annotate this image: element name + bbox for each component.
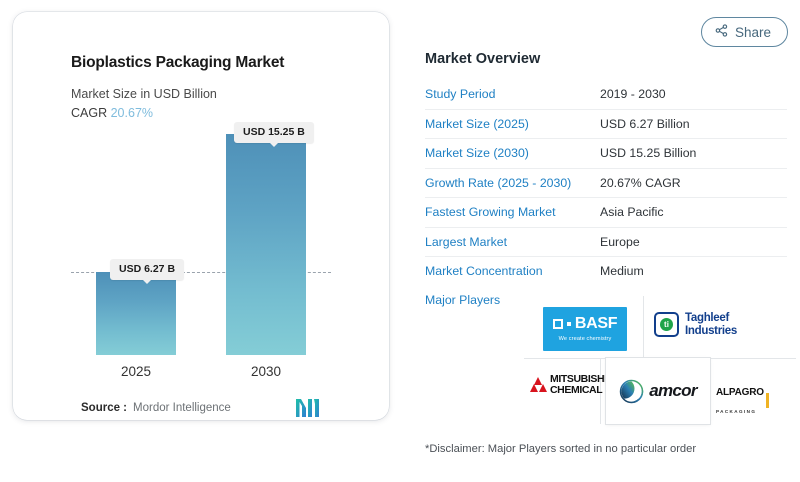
taghleef-wordmark: Taghleef Industries bbox=[685, 312, 737, 336]
major-players-logos: BASF We create chemistry ti Taghleef Ind… bbox=[524, 296, 796, 424]
logo-basf[interactable]: BASF We create chemistry bbox=[543, 307, 627, 351]
taghleef-line2: Industries bbox=[685, 325, 737, 337]
table-row: Fastest Growing Market Asia Pacific bbox=[425, 198, 787, 228]
row-value: 20.67% CAGR bbox=[600, 176, 681, 190]
taghleef-mark-icon: ti bbox=[654, 312, 679, 337]
basf-square-icon bbox=[553, 319, 563, 329]
share-label: Share bbox=[735, 25, 771, 40]
row-value: USD 15.25 Billion bbox=[600, 146, 696, 160]
source-value: Mordor Intelligence bbox=[133, 402, 231, 414]
source-row: Source : Mordor Intelligence bbox=[81, 402, 331, 414]
mitsubishi-diamond-icon bbox=[530, 377, 547, 392]
major-players-label: Major Players bbox=[425, 293, 500, 307]
row-label: Market Size (2025) bbox=[425, 117, 600, 131]
table-row: Market Size (2030) USD 15.25 Billion bbox=[425, 139, 787, 169]
row-value: Europe bbox=[600, 235, 640, 249]
alpagro-accent-bar bbox=[766, 393, 769, 408]
row-value: 2019 - 2030 bbox=[600, 87, 666, 101]
share-button[interactable]: Share bbox=[701, 17, 788, 47]
logo-mitsubishi-chemical[interactable]: MITSUBISHI CHEMICAL bbox=[530, 374, 607, 396]
bar-label-2030: USD 15.25 B bbox=[234, 122, 314, 143]
row-value: Asia Pacific bbox=[600, 205, 664, 219]
overview-table: Study Period 2019 - 2030 Market Size (20… bbox=[425, 80, 787, 286]
taghleef-inner-icon: ti bbox=[660, 318, 673, 331]
logo-alpagro-packaging[interactable]: ALPAGRO PACKAGING bbox=[716, 382, 769, 418]
source-label: Source : bbox=[81, 402, 127, 414]
grid-divider bbox=[710, 358, 711, 424]
market-snapshot-page: Bioplastics Packaging Market Market Size… bbox=[0, 0, 800, 482]
table-row: Growth Rate (2025 - 2030) 20.67% CAGR bbox=[425, 169, 787, 199]
market-overview-panel: Share Market Overview Study Period 2019 … bbox=[412, 0, 800, 482]
alpagro-wordmark: ALPAGRO PACKAGING bbox=[716, 382, 764, 418]
basf-dot-icon bbox=[567, 322, 571, 326]
logo-taghleef-industries[interactable]: ti Taghleef Industries bbox=[654, 312, 737, 337]
mitsubishi-wordmark: MITSUBISHI CHEMICAL bbox=[550, 374, 607, 396]
overview-title: Market Overview bbox=[425, 51, 540, 67]
logo-amcor[interactable]: amcor bbox=[606, 358, 710, 424]
taghleef-line1: Taghleef bbox=[685, 312, 729, 324]
row-label: Market Concentration bbox=[425, 264, 600, 278]
table-row: Study Period 2019 - 2030 bbox=[425, 80, 787, 110]
amcor-swirl-icon bbox=[619, 379, 644, 404]
row-label: Largest Market bbox=[425, 235, 600, 249]
x-axis-tick-2025: 2025 bbox=[96, 364, 176, 379]
bar-label-2025: USD 6.27 B bbox=[110, 259, 184, 280]
x-axis-tick-2030: 2030 bbox=[226, 364, 306, 379]
bar-chart-plot: USD 6.27 B USD 15.25 B 2025 2030 bbox=[13, 12, 389, 420]
row-label: Market Size (2030) bbox=[425, 146, 600, 160]
bar-2030[interactable] bbox=[226, 134, 306, 355]
grid-divider bbox=[643, 296, 644, 358]
disclaimer-text: *Disclaimer: Major Players sorted in no … bbox=[425, 443, 696, 455]
basf-mark: BASF bbox=[553, 316, 617, 332]
chart-card: Bioplastics Packaging Market Market Size… bbox=[13, 12, 389, 420]
basf-tagline: We create chemistry bbox=[559, 336, 612, 342]
basf-wordmark: BASF bbox=[575, 316, 617, 332]
bar-2025[interactable] bbox=[96, 272, 176, 355]
amcor-wordmark: amcor bbox=[649, 381, 697, 401]
mitsubishi-line2: CHEMICAL bbox=[550, 384, 602, 396]
row-label: Study Period bbox=[425, 87, 600, 101]
row-label: Fastest Growing Market bbox=[425, 205, 600, 219]
mordor-intelligence-logo bbox=[296, 399, 322, 422]
table-row: Market Size (2025) USD 6.27 Billion bbox=[425, 110, 787, 140]
row-value: Medium bbox=[600, 264, 644, 278]
table-row: Largest Market Europe bbox=[425, 228, 787, 258]
row-value: USD 6.27 Billion bbox=[600, 117, 690, 131]
row-label: Growth Rate (2025 - 2030) bbox=[425, 176, 600, 190]
table-row: Market Concentration Medium bbox=[425, 257, 787, 286]
share-icon bbox=[715, 24, 728, 40]
alpagro-line2: PACKAGING bbox=[716, 409, 756, 414]
alpagro-line1: ALPAGRO bbox=[716, 387, 764, 398]
